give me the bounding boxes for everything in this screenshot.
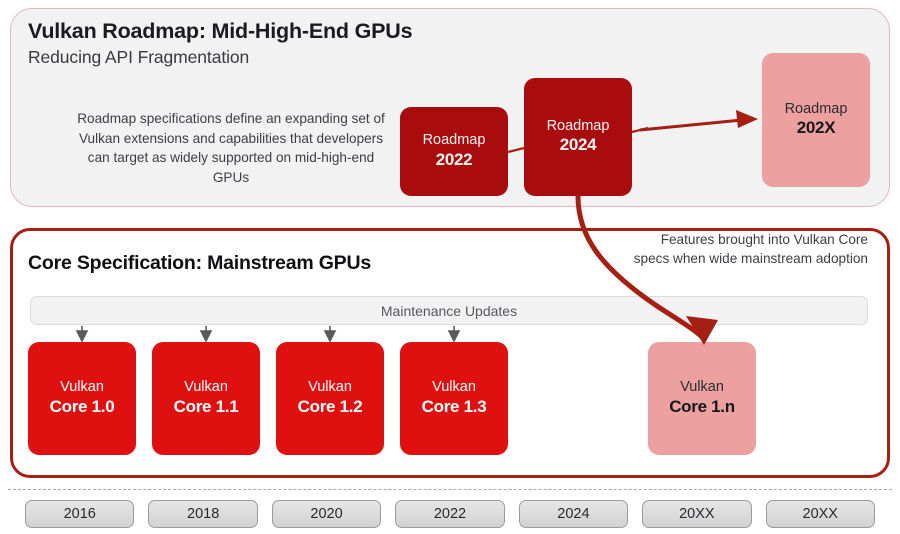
roadmap-description: Roadmap specifications define an expandi… [75,109,387,187]
roadmap-box-2024-line2: 2024 [560,135,597,156]
roadmap-box-2022-line1: Roadmap [423,132,486,150]
roadmap-box-2022[interactable]: Roadmap 2022 [400,107,508,196]
timeline-divider [8,489,892,490]
roadmap-panel-title: Vulkan Roadmap: Mid-High-End GPUs [28,19,412,44]
core-box-1-3-line1: Vulkan [432,379,476,397]
core-box-1-0-line1: Vulkan [60,379,104,397]
maintenance-updates-label: Maintenance Updates [381,303,517,319]
roadmap-box-2024[interactable]: Roadmap 2024 [524,78,632,196]
roadmap-box-2024-line1: Roadmap [547,118,610,136]
core-panel-title: Core Specification: Mainstream GPUs [28,252,371,275]
core-box-1-n-line2: Core 1.n [669,397,735,418]
timeline-chip[interactable]: 20XX [766,500,875,528]
timeline-chip[interactable]: 2018 [148,500,257,528]
timeline-chip[interactable]: 2024 [519,500,628,528]
core-box-1-2-line2: Core 1.2 [298,397,363,418]
core-box-1-n[interactable]: Vulkan Core 1.n [648,342,756,455]
core-box-1-3-line2: Core 1.3 [422,397,487,418]
timeline-chip[interactable]: 2016 [25,500,134,528]
timeline-chip[interactable]: 2022 [395,500,504,528]
roadmap-box-2022-line2: 2022 [436,150,473,171]
timeline-chip[interactable]: 2020 [272,500,381,528]
timeline-row: 2016 2018 2020 2022 2024 20XX 20XX [25,500,875,528]
core-box-1-0[interactable]: Vulkan Core 1.0 [28,342,136,455]
core-box-1-3[interactable]: Vulkan Core 1.3 [400,342,508,455]
roadmap-box-202x[interactable]: Roadmap 202X [762,53,870,187]
core-box-1-1[interactable]: Vulkan Core 1.1 [152,342,260,455]
core-box-1-2-line1: Vulkan [308,379,352,397]
core-box-1-1-line1: Vulkan [184,379,228,397]
maintenance-updates-bar: Maintenance Updates [30,296,868,325]
core-box-1-n-line1: Vulkan [680,379,724,397]
roadmap-panel-subtitle: Reducing API Fragmentation [28,47,249,68]
core-box-1-1-line2: Core 1.1 [174,397,239,418]
roadmap-box-202x-line2: 202X [797,118,836,139]
vulkan-roadmap-diagram: Vulkan Roadmap: Mid-High-End GPUs Reduci… [0,0,900,534]
core-box-1-0-line2: Core 1.0 [50,397,115,418]
features-adoption-note: Features brought into Vulkan Core specs … [628,231,868,268]
core-box-1-2[interactable]: Vulkan Core 1.2 [276,342,384,455]
roadmap-box-202x-line1: Roadmap [785,101,848,119]
timeline-chip[interactable]: 20XX [642,500,751,528]
